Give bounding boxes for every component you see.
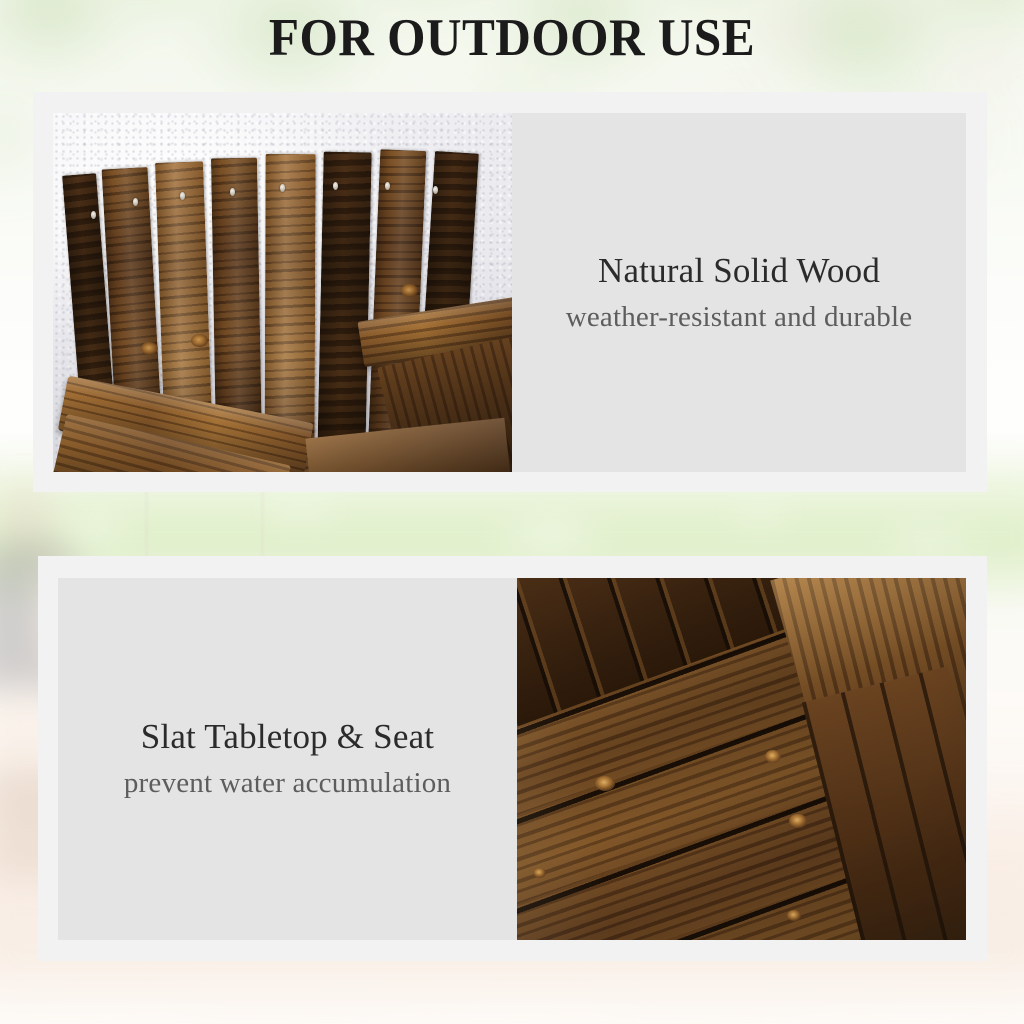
screw-head: [133, 198, 138, 206]
screw-head: [433, 186, 438, 194]
screw-head: [180, 192, 185, 200]
screw-head: [230, 188, 235, 196]
feature-subline-2: prevent water accumulation: [124, 762, 451, 804]
product-feature-banner: FOR OUTDOOR USE: [0, 0, 1024, 1024]
banner-title: FOR OUTDOOR USE: [36, 6, 988, 70]
feature-text-panel-1: Natural Solid Wood weather-resistant and…: [512, 113, 966, 472]
wood-knot: [401, 284, 418, 297]
feature-image-bench-backrest: [53, 113, 512, 472]
screw-head: [333, 182, 338, 190]
wood-knot: [191, 334, 208, 347]
screw-head: [385, 182, 390, 190]
screw-head: [91, 211, 96, 219]
bench-slat: [316, 152, 371, 472]
feature-headline-2: Slat Tabletop & Seat: [141, 714, 435, 760]
feature-headline-1: Natural Solid Wood: [598, 248, 880, 294]
photo-vignette: [517, 578, 966, 940]
feature-image-slat-tabletop: [517, 578, 966, 940]
feature-text-panel-2: Slat Tabletop & Seat prevent water accum…: [58, 578, 517, 940]
feature-card-natural-solid-wood: Natural Solid Wood weather-resistant and…: [33, 92, 987, 492]
wood-knot: [141, 342, 158, 355]
feature-subline-1: weather-resistant and durable: [566, 296, 913, 338]
tabletop-scene: [517, 578, 966, 940]
screw-head: [280, 184, 285, 192]
feature-card-slat-tabletop: Slat Tabletop & Seat prevent water accum…: [38, 556, 987, 961]
